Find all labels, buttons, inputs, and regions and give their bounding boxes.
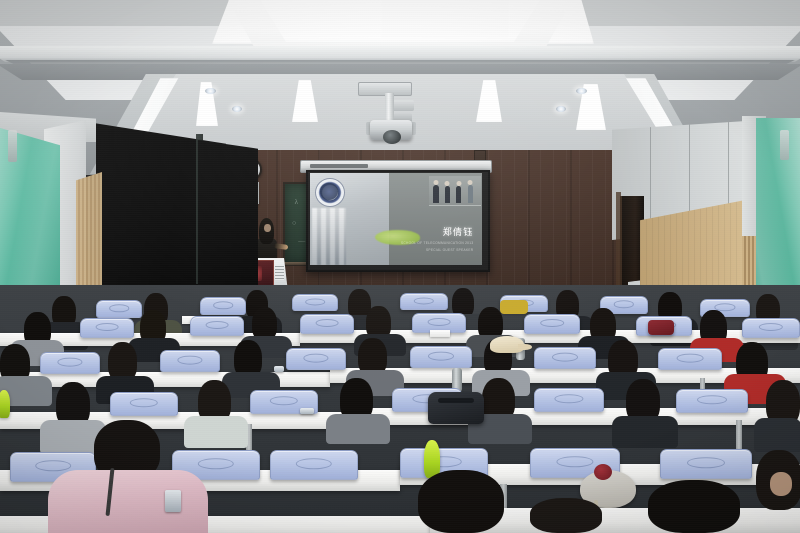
chair[interactable] — [676, 389, 748, 413]
chair[interactable] — [534, 347, 596, 369]
downlight-1 — [205, 88, 216, 94]
student-torso — [326, 414, 390, 444]
screen-housing-slot — [310, 164, 368, 168]
yellow-jacket-student — [500, 300, 528, 314]
projector-lens-icon — [383, 130, 401, 144]
slide-cityscape-image — [312, 208, 347, 265]
chair[interactable] — [96, 300, 142, 318]
red-pom-pom — [594, 464, 612, 480]
slide-figure-4 — [468, 185, 474, 204]
white-smartphone — [165, 490, 181, 512]
slide-guest-photo — [429, 176, 481, 206]
paper-notes — [430, 330, 450, 337]
lecture-hall-photo: λ ○ ⊃ — 郑倩钰 SCHOOL OF TELECOMMUNICATION … — [0, 0, 800, 533]
white-smartphone — [274, 366, 284, 372]
chair[interactable] — [400, 293, 448, 310]
chair[interactable] — [200, 297, 246, 315]
chair[interactable] — [300, 314, 354, 334]
chair[interactable] — [658, 348, 722, 370]
student-head — [530, 498, 602, 533]
chair[interactable] — [80, 318, 134, 338]
black-backpack — [428, 392, 484, 424]
pink-puffer-jacket-student — [48, 470, 208, 533]
chair[interactable] — [660, 449, 752, 479]
slide-figure-1 — [433, 185, 439, 203]
chair[interactable] — [110, 392, 178, 416]
university-seal-inner — [320, 183, 337, 200]
chair[interactable] — [292, 294, 338, 311]
backpack-strap — [438, 398, 474, 403]
student-torso — [754, 418, 800, 452]
downlight-3 — [576, 88, 587, 94]
left-wall-sconce — [8, 130, 17, 162]
downlight-2 — [232, 106, 242, 112]
chair[interactable] — [40, 352, 100, 374]
slide-left-half — [310, 173, 389, 265]
presenter-face — [264, 224, 271, 232]
chair[interactable] — [270, 450, 358, 480]
chair[interactable] — [190, 316, 244, 336]
chair[interactable] — [410, 346, 472, 368]
slide-subtitle-line-1: SCHOOL OF TELECOMMUNICATION 2013 — [401, 241, 473, 246]
right-wall-sconce — [780, 130, 789, 160]
slide-speaker-name: 郑倩钰 — [443, 225, 474, 238]
chair[interactable] — [286, 348, 346, 370]
left-wall-dark-panel-2 — [198, 140, 258, 285]
slide-figure-2 — [445, 186, 450, 203]
chair[interactable] — [742, 318, 800, 338]
chair[interactable] — [534, 388, 604, 412]
student-face — [770, 472, 792, 496]
lectern-vent-right — [275, 266, 284, 280]
green-water-bottle — [0, 390, 10, 418]
student-head — [418, 470, 504, 533]
student-torso — [612, 416, 678, 448]
red-handbag — [648, 320, 674, 335]
white-smartphone — [300, 408, 314, 414]
chair[interactable] — [160, 350, 220, 372]
projection-screen: 郑倩钰 SCHOOL OF TELECOMMUNICATION 2013 SPE… — [310, 173, 482, 265]
chair[interactable] — [524, 314, 580, 334]
student-head — [648, 480, 740, 533]
projector-mount-pole — [385, 93, 394, 123]
slide-figure-3 — [456, 186, 461, 203]
ceiling-beam-primary — [0, 46, 800, 62]
downlight-4 — [556, 106, 566, 112]
slide-subtitle-line-2: SPECIAL GUEST SPEAKER — [426, 248, 473, 253]
cap-brim — [518, 344, 532, 350]
student-torso — [184, 416, 248, 448]
